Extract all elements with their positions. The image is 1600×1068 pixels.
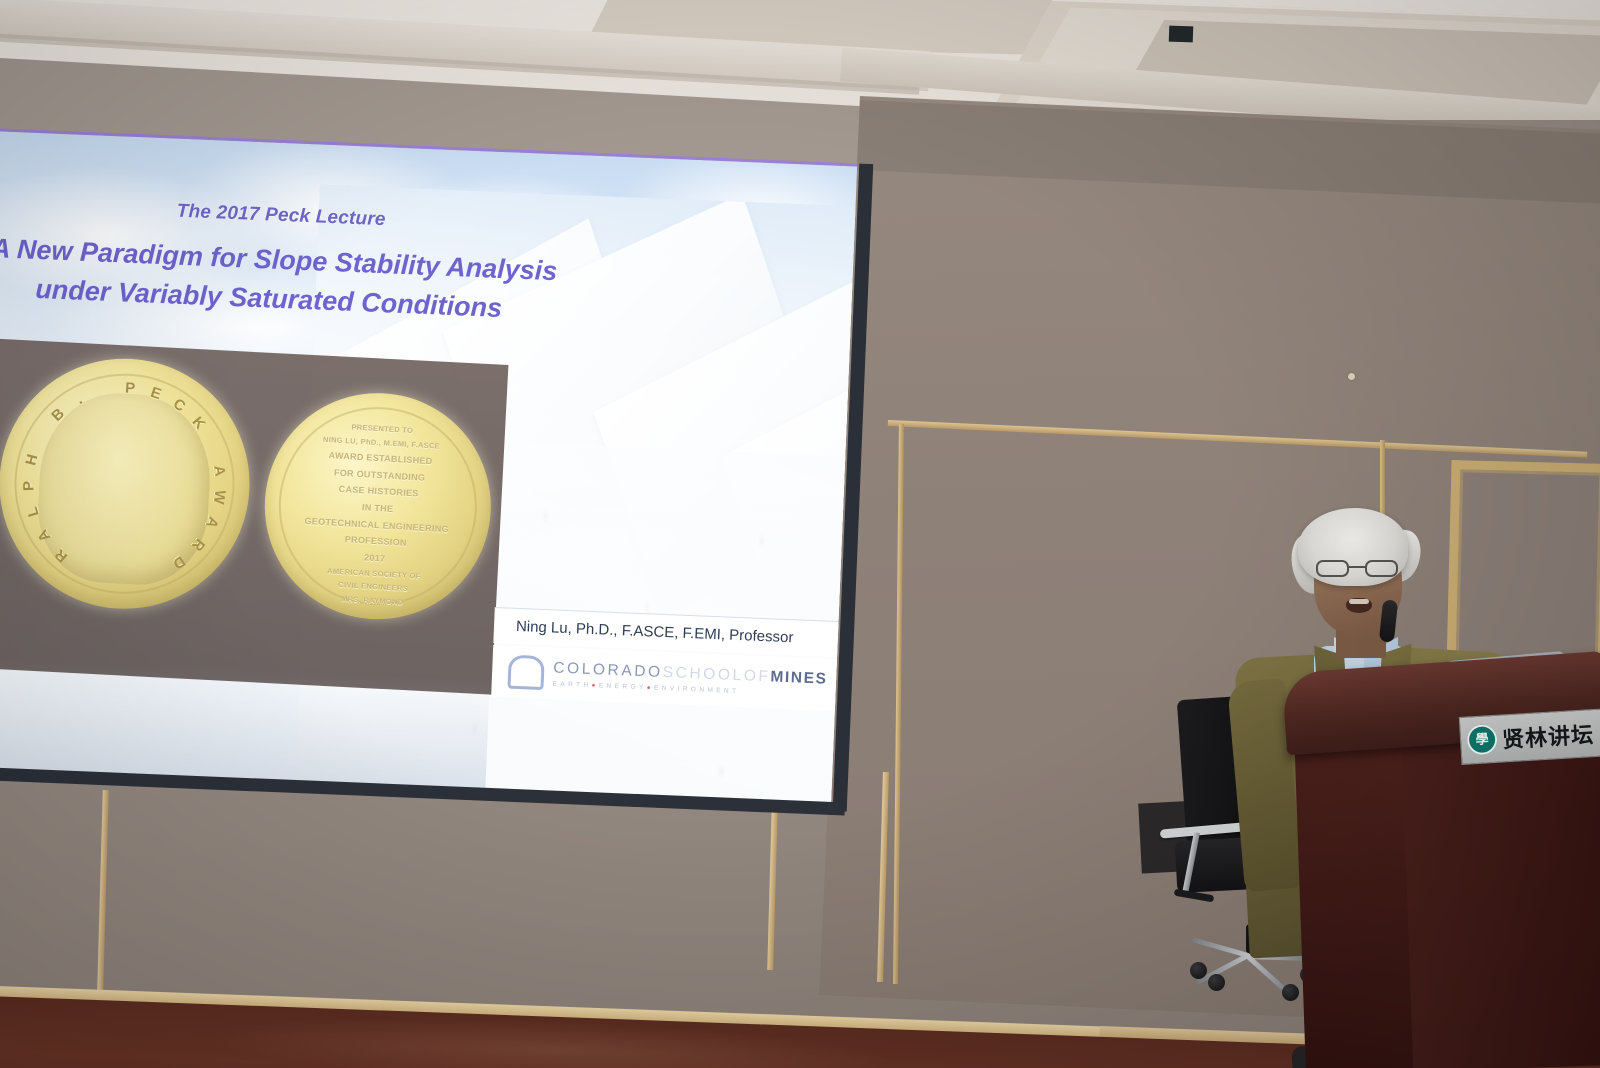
medal-arc-char: D [170, 552, 189, 572]
medal-arc-char: A [34, 526, 54, 544]
institution-word-mines: MINES [770, 668, 828, 687]
seal-glyph: 學 [1475, 733, 1489, 747]
medal-inscription: PRESENTED TO NING LU, PhD., M.EMI, F.ASC… [282, 417, 473, 613]
podium-sign-text: 贤林讲坛 [1501, 717, 1595, 754]
tagline-earth: EARTH [553, 680, 592, 689]
projection-screen: The 2017 Peck Lecture A New Paradigm for… [0, 128, 871, 814]
medal-arc-text: RALPH B. PECK AWARD [0, 352, 257, 616]
glasses-bridge [1349, 566, 1365, 568]
podium-nameplate: 學 贤林讲坛 [1459, 707, 1600, 765]
chair-caster [1190, 962, 1207, 979]
institution-word-school: SCHOOL [662, 664, 744, 684]
tagline-environment: ENVIRONMENT [654, 684, 740, 694]
lecture-hall-photo: The 2017 Peck Lecture A New Paradigm for… [0, 0, 1600, 1068]
institution-word-of: OF [743, 667, 770, 685]
presenter-name: Ning Lu, Ph.D., F.ASCE, F.EMI, Professor [516, 618, 794, 646]
medal-arc-char: K [188, 414, 208, 433]
lapel-microphone-icon [1379, 599, 1398, 642]
eyeglasses-icon [1315, 560, 1401, 578]
medal-arc-char: H [22, 453, 41, 468]
tagline-energy: ENERGY [599, 682, 647, 691]
lens-left [1316, 560, 1349, 577]
medal-arc-char: R [188, 535, 208, 554]
recessed-ceiling-fixture-icon [1167, 24, 1196, 45]
podium-left-face [1294, 736, 1413, 1068]
institution-word-colorado: COLORADO [553, 659, 663, 680]
institution-wordmark: COLORADOSCHOOLOFMINES EARTH●ENERGY●ENVIR… [553, 659, 828, 699]
colorado-school-of-mines-triangular-arch-icon [507, 655, 544, 690]
medal-arc-char: P [20, 481, 37, 491]
medal-arc-char: C [170, 395, 189, 415]
lens-right [1365, 560, 1398, 577]
medal-arc-char: P [125, 380, 136, 398]
medal-arc-char: . [74, 391, 86, 408]
medal-arc-char: B [48, 405, 68, 425]
presentation-slide: The 2017 Peck Lecture A New Paradigm for… [0, 128, 857, 803]
peck-award-medal-front: RALPH B. PECK AWARD [0, 352, 257, 616]
medal-arc-char: R [52, 545, 71, 565]
chair-caster [1208, 974, 1225, 991]
medal-arc-char: L [24, 505, 43, 519]
university-seal-icon: 學 [1466, 724, 1498, 756]
medal-arc-char: A [210, 464, 228, 477]
medal-arc-char: E [148, 384, 163, 403]
teeth [1349, 599, 1369, 604]
medal-arc-char: W [210, 489, 229, 505]
slide-bottom-shading [0, 658, 490, 789]
wall-fixture-dot-icon [1348, 373, 1355, 380]
lectern-podium: 學 贤林讲坛 [1290, 650, 1600, 1068]
mouth [1346, 598, 1372, 613]
medal-arc-char: A [202, 514, 222, 531]
